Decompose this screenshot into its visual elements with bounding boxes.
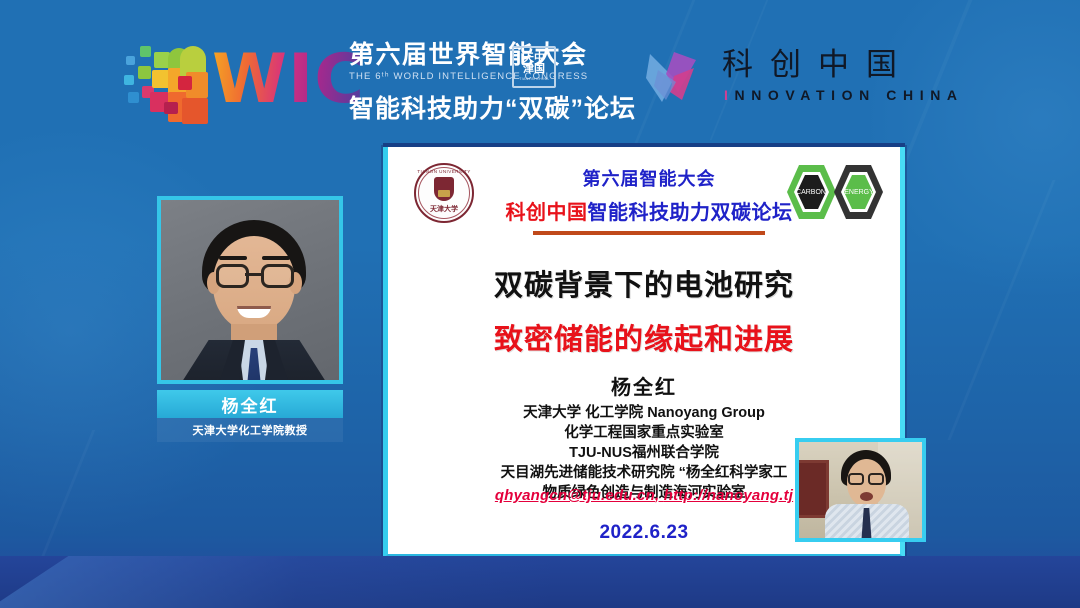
speaker-portrait: [157, 196, 343, 384]
speaker-card: 杨全红 天津大学化工学院教授: [157, 196, 343, 442]
speaker-title: 天津大学化工学院教授: [157, 418, 343, 442]
slide-title-main: 双碳背景下的电池研究: [388, 262, 900, 304]
event-title-cn: 第六届世界智能大会: [349, 42, 599, 68]
innovation-china-logo: 科创中国 INNOVATION CHINA: [644, 46, 964, 112]
portrait-brow: [219, 256, 247, 260]
event-title-block: 第六届世界智能大会 THE 6ᵗʰ WORLD INTELLIGENCE CON…: [349, 42, 599, 125]
slide-header-line2: 科创中国智能科技助力双碳论坛: [484, 196, 814, 225]
speaker-name: 杨全红: [157, 390, 343, 418]
seal-shield-icon: [434, 177, 454, 201]
presentation-stage: WIC 第六届世界智能大会 THE 6ᵗʰ WORLD INTELLIGENCE…: [0, 0, 1080, 608]
portrait-glasses: [261, 264, 294, 288]
webcam-mouth: [860, 492, 873, 501]
webcam-glasses: [868, 473, 884, 485]
slide-header-red: 科创中国: [506, 202, 588, 224]
contact-email[interactable]: qhyangcn@tju.edu.cn: [495, 487, 655, 504]
pixel-head-icon: [124, 42, 210, 128]
svg-text:ENERGY: ENERGY: [844, 189, 874, 196]
wic-logo: WIC: [124, 40, 359, 132]
slide-header-rule: [533, 231, 765, 235]
affiliation-line: 天津大学 化工学院 Nanoyang Group: [388, 403, 900, 423]
speaker-nameplate: 杨全红 天津大学化工学院教授: [157, 390, 343, 442]
event-header: WIC 第六届世界智能大会 THE 6ᵗʰ WORLD INTELLIGENCE…: [0, 0, 1080, 140]
butterfly-mark-icon: [644, 48, 706, 108]
slide-title-block: 双碳背景下的电池研究 致密储能的缘起和进展: [388, 262, 900, 358]
slide-author: 杨全红: [388, 371, 900, 400]
slide-header-block: 第六届智能大会 科创中国智能科技助力双碳论坛: [484, 165, 814, 235]
innovation-china-en: INNOVATION CHINA: [724, 87, 964, 103]
live-speaker-webcam[interactable]: [795, 438, 926, 542]
slide-title-sub: 致密储能的缘起和进展: [388, 316, 900, 358]
forum-title-cn: 智能科技助力“双碳”论坛: [349, 89, 599, 125]
webcam-glasses: [848, 473, 864, 485]
portrait-glasses: [216, 264, 249, 288]
contact-separator: ,: [655, 487, 664, 504]
innovation-china-cn: 科创中国: [722, 48, 914, 83]
contact-website[interactable]: http://nanoyang.tj: [664, 487, 793, 504]
seal-arc-text: TIANJIN UNIVERSITY: [414, 169, 474, 174]
seal-bottom-text: 天津大学: [414, 204, 474, 214]
bottom-wedge: [0, 556, 550, 608]
slide-header-line1: 第六届智能大会: [484, 165, 814, 191]
seal-en-text: TIANJIN CHINA: [519, 77, 549, 81]
tianjin-china-seal-icon: 天中 津国 TIANJIN CHINA: [512, 46, 556, 88]
bg-diagonal-line: [947, 180, 1055, 440]
webcam-picture-frame: [795, 460, 829, 518]
event-title-en: THE 6ᵗʰ WORLD INTELLIGENCE CONGRESS: [349, 71, 599, 82]
slide-header-blue: 智能科技助力双碳论坛: [588, 202, 793, 224]
wic-wordmark: WIC: [212, 46, 365, 114]
tianjin-university-seal: TIANJIN UNIVERSITY 天津大学: [414, 163, 474, 223]
portrait-brow: [262, 256, 290, 260]
seal-cn-text: 津国: [523, 64, 545, 75]
portrait-glasses-bridge: [245, 273, 263, 276]
